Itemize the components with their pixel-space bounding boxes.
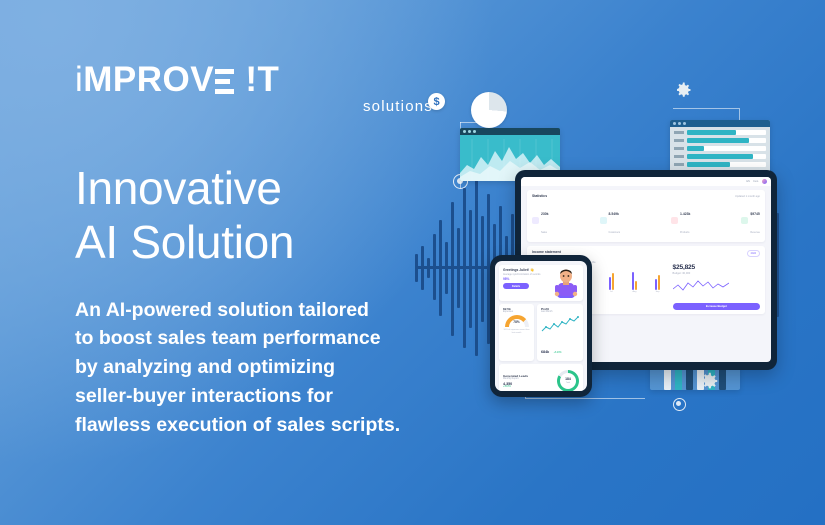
progress-bar: 2022 xyxy=(687,146,766,151)
period-selector[interactable]: 2024 xyxy=(747,250,760,257)
hero-illustration: $ $ xyxy=(405,70,805,440)
headline-line-2: AI Solution xyxy=(75,216,435,270)
profit-card: Profit Last Month 684k +8.28% xyxy=(537,304,583,361)
metrics-row: 82.5k Expenses 78% 30% of expenses more … xyxy=(499,304,583,361)
profit-subtitle: Last Month xyxy=(541,311,579,313)
body-line-1: An AI-powered solution tailored xyxy=(75,296,435,325)
wave-emoji: 👋 xyxy=(530,268,534,272)
window-titlebar xyxy=(460,128,560,135)
avatar-illustration xyxy=(553,268,579,298)
dashboard-topbar: EN Cust. xyxy=(521,177,771,186)
greeting-card: Greetings Juliet! 👋 Average synchronizat… xyxy=(499,265,583,301)
laptop-notch xyxy=(629,171,663,175)
gear-icon-top xyxy=(673,80,693,100)
income-sparkline xyxy=(673,278,729,294)
logo-main-1: MPROV xyxy=(83,60,214,99)
bar-stack xyxy=(655,268,660,290)
logo-stylized-e: E xyxy=(215,69,234,94)
leads-subtitle: Monthly Report xyxy=(503,378,528,380)
stat-value: 230k xyxy=(541,212,549,216)
statistics-updated: Updated 1 month ago xyxy=(735,195,760,198)
stat-value: 1.423k xyxy=(680,212,690,216)
stat-item: $9745Revenue xyxy=(741,202,760,238)
bar-label: Jul xyxy=(610,291,613,293)
greeting-percent: 98% xyxy=(503,277,551,281)
leads-row: Generated Leads Monthly Report 4,350 +15… xyxy=(503,370,579,391)
hero-description: An AI-powered solution tailored to boost… xyxy=(75,296,435,440)
details-button[interactable]: Details xyxy=(503,283,529,289)
leads-text: Generated Leads Monthly Report 4,350 +15… xyxy=(503,374,528,388)
row-label xyxy=(674,155,684,158)
list-item: 2024 xyxy=(674,130,766,135)
expenses-card: 82.5k Expenses 78% 30% of expenses more … xyxy=(499,304,534,361)
logo-wordmark: iMPROVE !T xyxy=(75,62,435,97)
list-item: 2022 xyxy=(674,146,766,151)
increase-budget-button[interactable]: Increase Budget xyxy=(673,303,760,310)
stat-icon xyxy=(532,217,539,224)
body-line-2: to boost sales team performance xyxy=(75,324,435,353)
headline-line-1: Innovative xyxy=(75,162,435,216)
donut-label: Total xyxy=(566,382,570,384)
bar-label: Aug xyxy=(632,291,636,293)
profit-line-chart xyxy=(541,315,579,335)
income-budget: Budget: 30,000 xyxy=(673,272,760,275)
income-amount: $25,825 xyxy=(673,264,760,271)
statistics-row: 230kSales 8.549kCustomers 1.423kProducts xyxy=(532,202,760,238)
bar-stack xyxy=(609,268,614,290)
expenses-gauge: 78% xyxy=(505,315,529,328)
window-titlebar xyxy=(670,120,770,127)
stat-icon xyxy=(600,217,607,224)
stat-item: 1.423kProducts xyxy=(671,202,690,238)
expenses-label: Expenses xyxy=(503,311,530,313)
stat-label: Customers xyxy=(609,231,621,234)
row-label xyxy=(674,139,684,142)
node-dot-bottom-inner xyxy=(676,401,681,406)
language-selector[interactable]: EN xyxy=(746,180,750,183)
pie-chart-icon xyxy=(471,92,507,128)
bar-stack xyxy=(632,268,637,290)
stat-item: 230kSales xyxy=(532,202,549,238)
row-label xyxy=(674,131,684,134)
body-line-3: by analyzing and optimizing xyxy=(75,353,435,382)
list-item: 2023 xyxy=(674,138,766,143)
bar-label: Sep xyxy=(656,291,660,293)
statistics-title: Statistics xyxy=(532,194,547,198)
connector-line-right-top xyxy=(673,108,739,109)
stat-icon xyxy=(741,217,748,224)
leads-donut: 184 Total xyxy=(557,370,579,391)
stat-value: $9745 xyxy=(750,212,759,216)
gauge-value: 78% xyxy=(505,320,529,324)
progress-bar: 2024 xyxy=(687,130,766,135)
profit-value: 684k xyxy=(541,350,549,354)
dollar-badge-top: $ xyxy=(428,93,445,110)
avatar[interactable] xyxy=(762,179,767,184)
profit-delta: +8.28% xyxy=(554,352,562,354)
row-label xyxy=(674,163,684,166)
stat-label: Sales xyxy=(541,231,547,234)
connector-line-bottom-h xyxy=(525,398,645,399)
phone-screen[interactable]: Greetings Juliet! 👋 Average synchronizat… xyxy=(495,261,587,391)
page-title: Innovative AI Solution xyxy=(75,162,435,270)
hero-text-column: iMPROVE !T solutions Innovative AI Solut… xyxy=(75,62,435,440)
phone-body: Greetings Juliet! 👋 Average synchronizat… xyxy=(490,255,592,397)
progress-bar: 2020 xyxy=(687,162,766,167)
logo-main-2: !T xyxy=(235,60,279,99)
stat-item: 8.549kCustomers xyxy=(600,202,621,238)
gear-icon-bottom-large xyxy=(698,370,720,392)
body-line-5: flawless execution of sales scripts. xyxy=(75,411,435,440)
progress-bar: 2023 xyxy=(687,138,766,143)
bar-group: Aug xyxy=(624,268,644,293)
leads-card: Generated Leads Monthly Report 4,350 +15… xyxy=(499,364,583,391)
row-label xyxy=(674,147,684,150)
stat-label: Products xyxy=(680,231,689,234)
brand-logo[interactable]: iMPROVE !T solutions xyxy=(75,62,435,124)
phone-device: Greetings Juliet! 👋 Average synchronizat… xyxy=(490,255,592,397)
bar-group: Jul xyxy=(601,268,621,293)
greeting-text: Greetings Juliet! 👋 Average synchronizat… xyxy=(503,268,551,298)
list-item: 2021 xyxy=(674,154,766,159)
statistics-card: Statistics Updated 1 month ago 230kSales… xyxy=(527,190,765,242)
list-item: 2020 xyxy=(674,162,766,167)
greeting-title: Greetings Juliet! 👋 xyxy=(503,268,551,272)
expenses-note: 30% of expenses more than last month xyxy=(503,329,530,334)
income-title: Income statement xyxy=(532,250,596,254)
stat-icon xyxy=(671,217,678,224)
income-summary-col: $25,825 Budget: 30,000 Increase Budget xyxy=(673,264,760,310)
bar-group: Sep xyxy=(647,268,667,293)
user-label[interactable]: Cust. xyxy=(753,180,759,183)
progress-bar: 2021 xyxy=(687,154,766,159)
greeting-subtitle: Average synchronization of records xyxy=(503,273,551,276)
donut-center: 184 Total xyxy=(560,373,576,389)
hero-banner: iMPROVE !T solutions Innovative AI Solut… xyxy=(0,0,825,525)
avatar-svg xyxy=(553,268,579,298)
progress-list-window[interactable]: 2024 2023 2022 2021 2020 xyxy=(670,120,770,172)
stat-value: 8.549k xyxy=(609,212,619,216)
stat-label: Revenue xyxy=(750,231,760,234)
leads-delta: +15.8% xyxy=(503,386,528,388)
progress-rows: 2024 2023 2022 2021 2020 xyxy=(670,127,770,170)
body-line-4: seller-buyer interactions for xyxy=(75,382,435,411)
